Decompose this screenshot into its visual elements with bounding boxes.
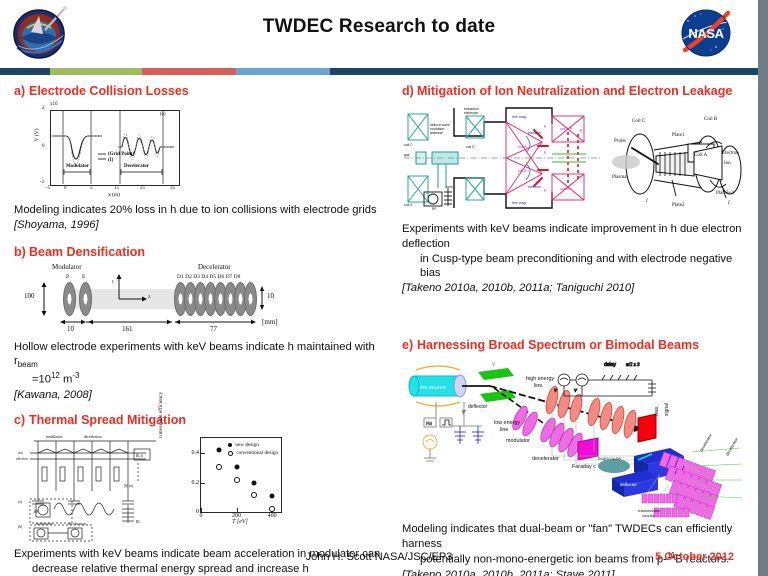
- chart-legend-item-new: new design: [228, 442, 278, 448]
- section-b-caption-unit: m: [60, 374, 72, 386]
- chart-legend-label-conv: conventional design: [236, 450, 278, 456]
- chart-point-conv-3: [251, 492, 257, 498]
- slide-header: TWDEC Research to date NASA: [0, 0, 758, 68]
- svg-text:P: P: [544, 151, 547, 155]
- chart-legend: new design conventional design: [228, 442, 278, 458]
- section-b-caption-line2-wrap: =1012 m-3: [14, 371, 388, 388]
- plot-a-y-exponent: x10: [50, 102, 58, 107]
- chart-ytick-2: 0.4: [192, 450, 200, 456]
- svg-text:electron: electron: [16, 457, 28, 461]
- plot-a-ytick-mid: 0: [42, 144, 45, 149]
- section-c-caption-line2: decrease relative thermal energy spread …: [14, 562, 388, 576]
- section-a-caption-line1: Modeling indicates 20% loss in h due to …: [14, 204, 377, 216]
- circuit-art: modulation deceleration ion electron RLA…: [16, 431, 166, 543]
- section-e-caption: Modeling indicates that dual-beam or "fa…: [402, 522, 746, 576]
- section-a-letter: a): [14, 84, 29, 98]
- section-d-letter: d): [402, 84, 417, 98]
- section-c-heading: c)Thermal Spread Mitigation: [14, 413, 388, 427]
- beam-dim-decelerator: 77: [210, 325, 217, 333]
- svg-text:low energy: low energy: [494, 420, 520, 426]
- plot-a-xlabel: x (m): [50, 192, 178, 198]
- cusp-beam-preconditioning-schematic: extractionelectrode helicon waveexcitati…: [402, 102, 608, 214]
- svg-text:ion: ion: [18, 451, 23, 455]
- plot-a-region-modulator: Modulator: [66, 164, 89, 169]
- nasa-meatball-logo: NASA: [676, 5, 736, 61]
- svg-text:V: V: [492, 363, 496, 368]
- chart-xtickmark-1: [237, 508, 238, 512]
- beam-dim-drift: 161: [122, 325, 133, 333]
- svg-text:bias: bias: [654, 406, 660, 416]
- plot-a-legend-grid: (Grid Point): [108, 152, 134, 157]
- section-b-caption-line2: =10: [32, 374, 51, 386]
- chart-xtickmark-0: [201, 508, 202, 512]
- plot-a-ytick-bot: -2: [40, 180, 44, 185]
- section-b-letter: b): [14, 245, 29, 259]
- svg-text:coil B: coil B: [560, 187, 569, 191]
- svg-text:coil A: coil A: [518, 169, 527, 173]
- conversion-efficiency-vs-temperature-chart: conversion efficiency 0 0.2 0.4 0 200 40…: [174, 431, 292, 535]
- section-c-letter: c): [14, 413, 29, 427]
- section-b: b)Beam Densification Modulator Decelerat…: [14, 245, 388, 403]
- svg-text:coil B: coil B: [560, 127, 569, 131]
- beam-dim-gap: 10: [267, 292, 274, 300]
- svg-text:circuits: circuits: [642, 513, 654, 518]
- dual-beam-fan-twdec-layout-diagram: ion source V deflector FM: [402, 356, 746, 522]
- section-d-caption-line2: in Cusp-type beam preconditioning and wi…: [402, 252, 746, 282]
- svg-text:electron: electron: [528, 185, 541, 189]
- section-b-caption-sup: 12: [51, 371, 60, 380]
- right-column: d)Mitigation of Ion Neutralization and E…: [402, 84, 746, 576]
- beam-axis-z: z: [148, 294, 150, 300]
- plot-a-legend-i: (I): [108, 158, 113, 163]
- section-b-caption-unit-sup: -3: [72, 371, 79, 380]
- svg-text:line cusp: line cusp: [512, 115, 526, 119]
- accent-segment-red: [142, 68, 236, 75]
- svg-text:deceleration: deceleration: [68, 522, 86, 526]
- open-circle-marker-icon: [228, 451, 233, 456]
- svg-text:electrode: electrode: [464, 111, 478, 115]
- svg-text:delay: delay: [604, 362, 616, 368]
- svg-text:V: V: [574, 388, 578, 393]
- plot-a-region-decelerator: Decelerator: [124, 164, 149, 169]
- svg-text:Faraday c: Faraday c: [572, 464, 596, 470]
- svg-text:line: line: [500, 427, 508, 433]
- plot-a-ytick-top: 2: [42, 106, 45, 111]
- page-title: TWDEC Research to date: [0, 16, 758, 38]
- plot-a-xtick-0: -5: [46, 186, 50, 191]
- svg-text:RLA: RLA: [136, 454, 144, 458]
- svg-text:RF: RF: [432, 207, 437, 211]
- section-a: a)Electrode Collision Losses V (V) x (m)…: [14, 84, 388, 233]
- section-b-citation: [Kawana, 2008]: [14, 389, 92, 401]
- svg-text:line cusp: line cusp: [512, 201, 526, 205]
- svg-text:Ion: Ion: [724, 161, 731, 166]
- svg-text:decelerator: decelerator: [532, 456, 559, 462]
- svg-text:FM: FM: [426, 421, 433, 426]
- chart-legend-item-conv: conventional design: [228, 450, 278, 456]
- chart-xlabel: T [eV]: [200, 519, 280, 525]
- svg-text:decelerator: decelerator: [699, 432, 714, 452]
- section-b-heading: b)Beam Densification: [14, 245, 388, 259]
- header-accent-bar: [0, 68, 758, 75]
- svg-text:P: P: [544, 125, 547, 129]
- svg-text:deflector: deflector: [620, 482, 637, 487]
- svg-text:modulator: modulator: [506, 438, 530, 444]
- svg-text:decelerator: decelerator: [725, 436, 740, 456]
- plot-a-curves: [50, 110, 178, 184]
- chart-point-conv-4: [269, 506, 275, 512]
- beam-units: [mm]: [262, 318, 278, 326]
- chart-ytick-1: 0.2: [192, 480, 200, 486]
- svg-text:P: P: [570, 127, 573, 131]
- svg-text:coil C: coil C: [404, 203, 413, 207]
- section-e-caption-line1: Modeling indicates that dual-beam or "fa…: [402, 523, 732, 550]
- cusp-magnet-3d-cutaway-diagram: Coil C Coil B Coil A Probe Plasma Plate1…: [610, 102, 744, 214]
- chart-plot-area: 0 0.2 0.4 0 200 400: [200, 437, 282, 513]
- svg-text:signal: signal: [664, 403, 670, 416]
- section-e-citation: [Takeno 2010a, 2010b, 2011a; Stave 2011]: [402, 569, 615, 576]
- svg-text:coil A: coil A: [518, 145, 527, 149]
- accent-segment-blue: [236, 68, 330, 75]
- plot-a-xtick-4: 25: [140, 186, 145, 191]
- section-d-caption: Experiments with keV beams indicate impr…: [402, 222, 746, 296]
- svg-text:I: I: [645, 199, 648, 204]
- chart-point-conv-2: [234, 477, 240, 483]
- chart-ylabel: conversion efficiency: [158, 385, 164, 445]
- section-a-citation: [Shoyama, 1996]: [14, 219, 99, 231]
- section-b-title: Beam Densification: [29, 245, 145, 259]
- section-e-letter: e): [402, 338, 417, 352]
- svg-text:Probe: Probe: [614, 139, 626, 144]
- chart-point-new-3: [252, 480, 257, 485]
- svg-text:coil C: coil C: [466, 145, 475, 149]
- chart-point-new-4: [270, 494, 275, 499]
- svg-text:Coil B: Coil B: [704, 117, 718, 122]
- svg-text:Electron: Electron: [722, 151, 739, 156]
- svg-text:ion source: ion source: [420, 385, 446, 391]
- electrode-collision-waveform-plot: V (V) x (m) x10 (a): [20, 102, 195, 200]
- section-e-heading: e)Harnessing Broad Spectrum or Bimodal B…: [402, 338, 746, 352]
- accent-segment-navy-right: [330, 68, 758, 75]
- section-d: d)Mitigation of Ion Neutralization and E…: [402, 84, 746, 296]
- beam-axis-r: r: [112, 279, 114, 285]
- section-d-citation: [Takeno 2010a, 2010b, 2011a; Taniguchi 2…: [402, 282, 634, 294]
- beam-dim-height: 100: [24, 292, 35, 300]
- section-b-caption: Hollow electrode experiments with keV be…: [14, 340, 388, 403]
- section-d-title: Mitigation of Ion Neutralization and Ele…: [417, 84, 732, 98]
- chart-point-new-2: [234, 464, 239, 469]
- svg-text:deflector: deflector: [468, 404, 488, 410]
- section-e-title: Harnessing Broad Spectrum or Bimodal Bea…: [417, 338, 699, 352]
- plot-a-xtick-2: 5: [90, 186, 93, 191]
- chart-legend-label-new: new design: [235, 442, 258, 448]
- svg-text:Plate1: Plate1: [672, 133, 685, 138]
- svg-text:high energy: high energy: [526, 376, 554, 382]
- section-a-title: Electrode Collision Losses: [29, 84, 189, 98]
- svg-text:Plasma: Plasma: [612, 175, 627, 180]
- section-d-heading: d)Mitigation of Ion Neutralization and E…: [402, 84, 746, 98]
- plot-a-xtick-3: 15: [114, 186, 119, 191]
- footer-author: John H. Scott NASA/JSC/EP3: [0, 551, 758, 563]
- presentation-slide: TWDEC Research to date NASA a: [0, 0, 768, 576]
- svg-text:P: P: [544, 189, 547, 193]
- chart-ytickmark-2: [201, 453, 205, 454]
- beam-dim-modulator: 10: [67, 325, 74, 333]
- svg-text:gas: gas: [404, 153, 410, 157]
- section-a-heading: a)Electrode Collision Losses: [14, 84, 388, 98]
- svg-text:Coil A: Coil A: [694, 153, 708, 158]
- svg-text:(b): (b): [18, 525, 23, 529]
- svg-text:line: line: [534, 383, 542, 389]
- section-b-caption-sub: beam: [18, 361, 38, 370]
- slide-canvas: TWDEC Research to date NASA a: [0, 0, 758, 576]
- svg-text:I: I: [727, 201, 730, 206]
- twdec-equivalent-circuit-diagram: modulation deceleration ion electron RLA…: [16, 431, 166, 543]
- section-d-caption-line1: Experiments with keV beams indicate impr…: [402, 223, 742, 250]
- svg-text:modulation: modulation: [36, 522, 53, 526]
- svg-text:beam router: beam router: [598, 456, 622, 461]
- section-b-caption-line1: Hollow electrode experiments with keV be…: [14, 341, 375, 368]
- chart-point-conv-1: [216, 464, 222, 470]
- beam-axes-and-dims: [22, 263, 294, 337]
- svg-text:BL: BL: [136, 520, 141, 524]
- svg-text:antenna: antenna: [430, 131, 442, 135]
- plot-a-ylabel: V (V): [34, 120, 40, 150]
- section-e: e)Harnessing Broad Spectrum or Bimodal B…: [402, 338, 746, 576]
- section-a-caption: Modeling indicates 20% loss in h due to …: [14, 203, 388, 233]
- svg-text:(a): (a): [18, 500, 23, 504]
- svg-text:deceleration: deceleration: [84, 435, 102, 439]
- svg-text:V: V: [462, 411, 466, 416]
- plot-a-xtick-5: 35: [170, 186, 175, 191]
- svg-text:electron: electron: [528, 131, 541, 135]
- svg-text:modulation: modulation: [46, 435, 63, 439]
- chart-point-new-1: [216, 448, 221, 453]
- svg-text:coil C: coil C: [404, 143, 413, 147]
- svg-text:NASA: NASA: [688, 26, 724, 41]
- svg-text:Vext: Vext: [446, 185, 453, 189]
- svg-text:Plate2: Plate2: [672, 203, 685, 208]
- svg-text:Plate3+4: Plate3+4: [716, 191, 734, 196]
- filled-circle-marker-icon: [228, 443, 232, 447]
- left-column: a)Electrode Collision Losses V (V) x (m)…: [14, 84, 388, 576]
- svg-text:RF: RF: [34, 510, 38, 514]
- svg-text:(b) (a): (b) (a): [124, 484, 134, 488]
- svg-text:π/2 x 3: π/2 x 3: [626, 363, 640, 368]
- chart-ytickmark-1: [201, 483, 205, 484]
- plot-a-xtick-1: 0: [64, 186, 67, 191]
- accent-segment-green: [50, 68, 142, 75]
- modulator-decelerator-geometry-diagram: Modulator Decelerator P E D1 D2 D3 D4 D5…: [22, 263, 294, 337]
- accent-segment-navy-left: [0, 68, 50, 75]
- svg-text:P: P: [580, 129, 583, 133]
- svg-text:Coil C: Coil C: [632, 119, 646, 124]
- footer-date: 5 October 2012: [655, 551, 734, 563]
